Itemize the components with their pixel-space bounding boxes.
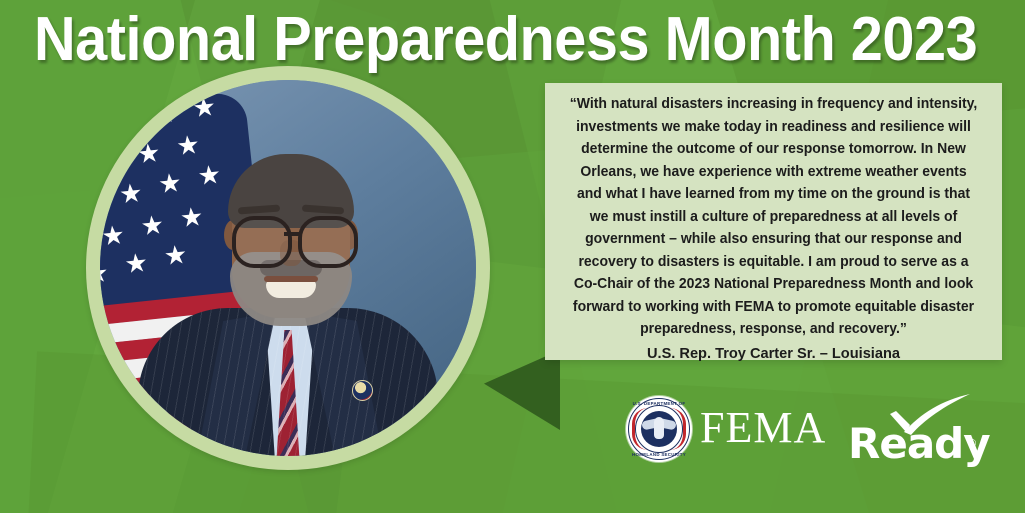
glasses-lens-right — [298, 216, 358, 268]
page-title: National Preparedness Month 2023 — [34, 5, 977, 75]
quote-attribution: U.S. Rep. Troy Carter Sr. – Louisiana — [559, 344, 988, 365]
ready-logo: Ready ® — [848, 390, 1008, 470]
dhs-seal-top-text: U.S. DEPARTMENT OF — [626, 401, 692, 406]
ready-registered-mark: ® — [968, 438, 976, 450]
dhs-seal-bottom-text: HOMELAND SECURITY — [626, 452, 692, 457]
dhs-seal-icon: U.S. DEPARTMENT OF HOMELAND SECURITY — [626, 396, 692, 462]
glasses-bridge — [284, 232, 300, 236]
quote-card: “With natural disasters increasing in fr… — [545, 83, 1002, 360]
subject-lapel-pin — [352, 380, 373, 401]
portrait-photo: ★ ★ ★ ★ ★ ★ ★ ★ ★ ★ ★ ★ ★ ★ ★ ★ ★ — [100, 80, 476, 456]
subject-suit-pinstripes — [138, 308, 438, 456]
glasses-lens-left — [232, 216, 292, 268]
portrait-ring: ★ ★ ★ ★ ★ ★ ★ ★ ★ ★ ★ ★ ★ ★ ★ ★ ★ — [86, 66, 490, 470]
subject-lip — [264, 276, 318, 282]
dhs-eagle-icon — [641, 411, 677, 447]
logo-row: U.S. DEPARTMENT OF HOMELAND SECURITY FEM… — [620, 390, 1010, 475]
quote-text: “With natural disasters increasing in fr… — [568, 93, 980, 341]
subject-mouth — [266, 280, 316, 298]
fema-wordmark: FEMA — [700, 402, 826, 454]
national-preparedness-month-poster: National Preparedness Month 2023 ★ ★ ★ ★… — [0, 0, 1025, 513]
